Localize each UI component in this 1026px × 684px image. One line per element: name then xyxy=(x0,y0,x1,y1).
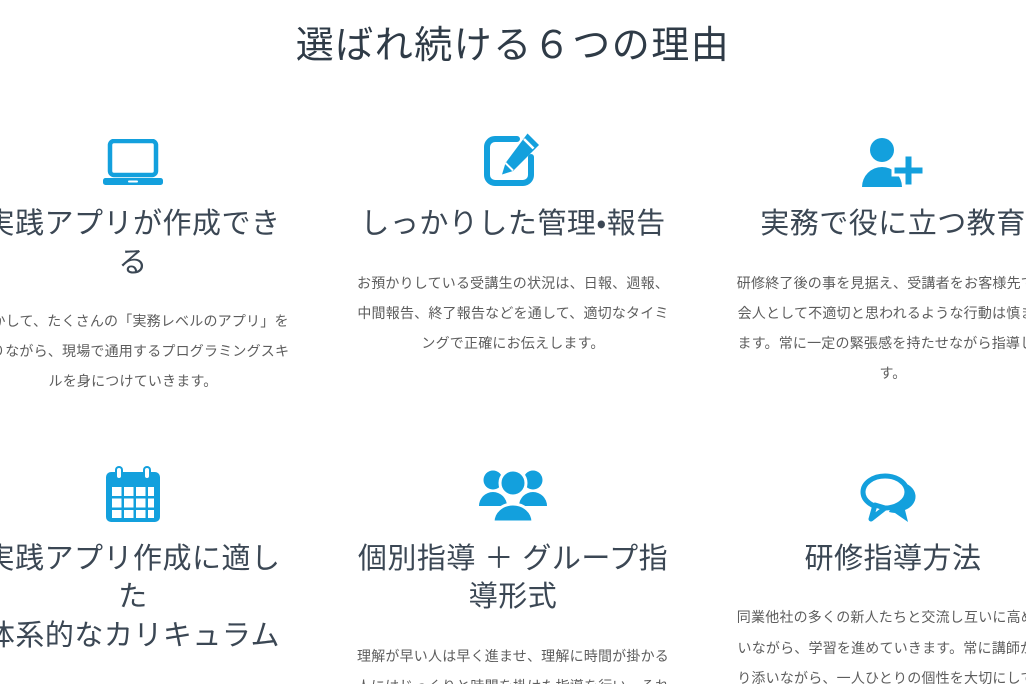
feature-card-title: 実務で役に立つ教育 xyxy=(733,205,1026,243)
feature-card-curriculum: 実践アプリ作成に適した 体系的なカリキュラム 受講者それぞれが、専用の「学習管理… xyxy=(0,450,323,684)
feature-card-management-report: しっかりした管理・報告 お預かりしている受講生の状況は、日報、週報、中間報告、終… xyxy=(323,115,703,396)
features-section: 選ばれ続ける６つの理由 実践アプリが作成できる 動かして、たくさんの「実務レベル… xyxy=(0,0,1026,684)
feature-card-body: 動かして、たくさんの「実務レベルのアプリ」を作りながら、現場で通用するプログラミ… xyxy=(0,306,293,396)
feature-card-title: 実践アプリが作成できる xyxy=(0,205,293,282)
feature-card-body: 研修終了後の事を見据え、受講者をお客様先で社会人として不適切と思われるような行動… xyxy=(733,268,1026,388)
calendar-icon xyxy=(0,450,293,524)
feature-card-group-teaching: 個別指導 ＋ グループ指導形式 理解が早い人は早く進ませ、理解に時間が掛かる人に… xyxy=(323,450,703,684)
laptop-icon xyxy=(0,115,293,189)
features-grid: 実践アプリが作成できる 動かして、たくさんの「実務レベルのアプリ」を作りながら、… xyxy=(0,115,1026,684)
feature-card-practical-app: 実践アプリが作成できる 動かして、たくさんの「実務レベルのアプリ」を作りながら、… xyxy=(0,115,323,396)
edit-pencil-icon xyxy=(353,115,673,189)
feature-card-title: 個別指導 ＋ グループ指導形式 xyxy=(353,540,673,617)
feature-card-body: 理解が早い人は早く進ませ、理解に時間が掛かる人にはじっくりと時間を掛けた指導を行… xyxy=(353,641,673,684)
feature-card-body: 同業他社の多くの新人たちと交流し互いに高め合いながら、学習を進めていきます。常に… xyxy=(733,602,1026,684)
feature-card-body: お預かりしている受講生の状況は、日報、週報、中間報告、終了報告などを通して、適切… xyxy=(353,268,673,358)
speech-bubbles-icon xyxy=(733,450,1026,524)
feature-card-body: 受講者それぞれが、専用の「学習管理システム」を使って体系的なカリキュラムを指示通… xyxy=(0,679,293,684)
feature-card-title: 実践アプリ作成に適した 体系的なカリキュラム xyxy=(0,540,293,655)
feature-card-teaching-method: 研修指導方法 同業他社の多くの新人たちと交流し互いに高め合いながら、学習を進めて… xyxy=(703,450,1026,684)
feature-card-title: しっかりした管理・報告 xyxy=(353,205,673,243)
page-viewport: 選ばれ続ける６つの理由 実践アプリが作成できる 動かして、たくさんの「実務レベル… xyxy=(0,0,1026,684)
group-people-icon xyxy=(353,450,673,524)
page-title: 選ばれ続ける６つの理由 xyxy=(0,22,1026,71)
add-user-icon xyxy=(733,115,1026,189)
feature-card-title: 研修指導方法 xyxy=(733,540,1026,578)
feature-card-practical-education: 実務で役に立つ教育 研修終了後の事を見据え、受講者をお客様先で社会人として不適切… xyxy=(703,115,1026,396)
